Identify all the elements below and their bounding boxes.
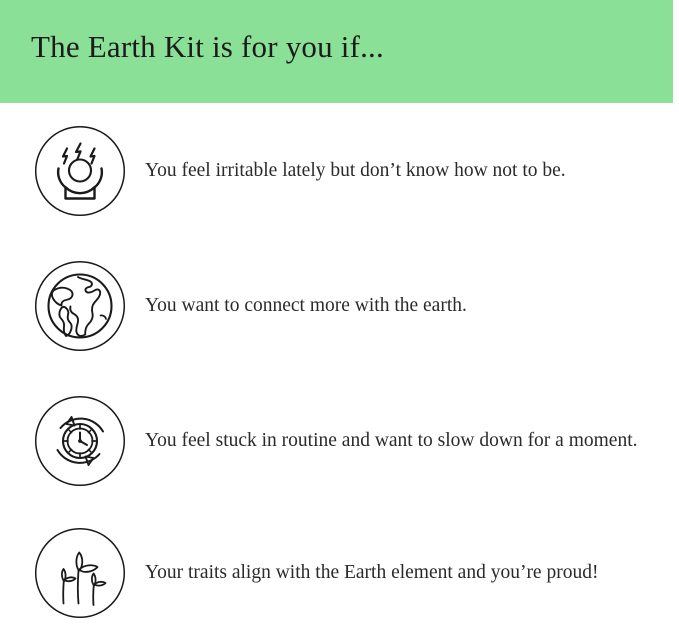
list-item-label: You feel stuck in routine and want to sl…: [145, 428, 679, 454]
sprouts-seedling-icon: [34, 527, 126, 619]
list-item: Your traits align with the Earth element…: [0, 505, 679, 640]
list-item-label: You want to connect more with the earth.: [145, 293, 679, 319]
clock-cycle-icon: [34, 395, 126, 487]
list-item: You want to connect more with the earth.: [0, 238, 679, 373]
qualifier-list: You feel irritable lately but don’t know…: [0, 103, 679, 634]
list-item: You feel irritable lately but don’t know…: [0, 103, 679, 238]
earth-kit-promo-page: The Earth Kit is for you if...: [0, 0, 679, 634]
list-item-label: Your traits align with the Earth element…: [145, 560, 679, 586]
list-item-label: You feel irritable lately but don’t know…: [145, 158, 679, 184]
stressed-person-icon: [34, 125, 126, 217]
header-band: The Earth Kit is for you if...: [0, 0, 673, 103]
page-title: The Earth Kit is for you if...: [31, 27, 384, 67]
globe-earth-icon: [34, 260, 126, 352]
list-item: You feel stuck in routine and want to sl…: [0, 373, 679, 508]
